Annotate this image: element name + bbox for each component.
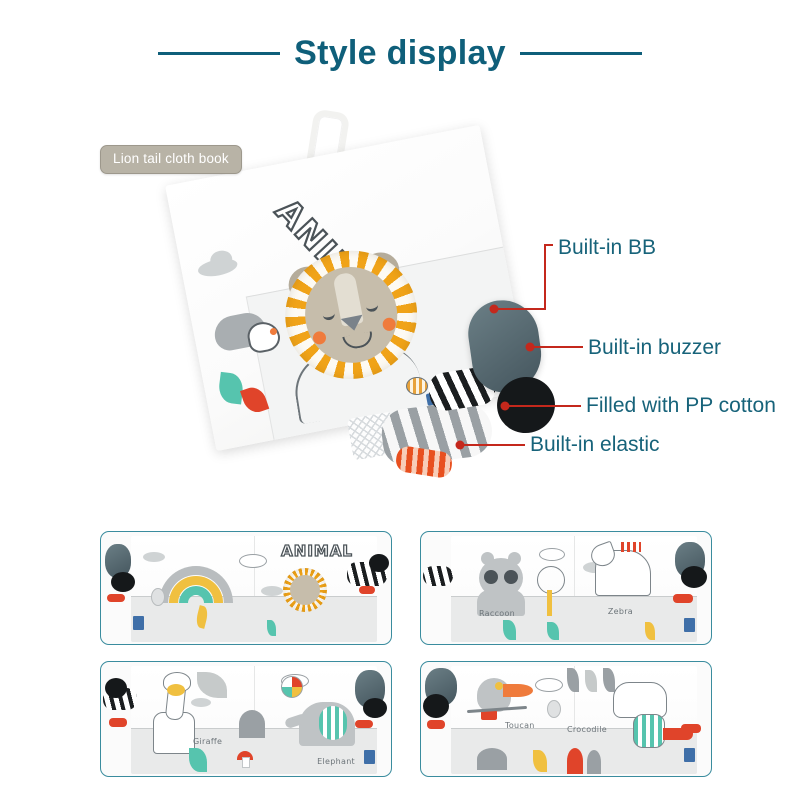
- black-plush-tail: [369, 554, 389, 572]
- thumbnail-gallery: ANIMAL: [100, 531, 712, 777]
- raccoon-ear-left: [481, 552, 494, 565]
- mini-lion-plush: [283, 568, 327, 612]
- blue-tab-icon: [364, 750, 375, 764]
- leaf-icon: [547, 622, 559, 640]
- callout-label-built-in-elastic: Built-in elastic: [530, 433, 660, 457]
- lion-cheek-right: [382, 317, 397, 332]
- thumbnail-giraffe-elephant[interactable]: Giraffe Elephant: [100, 661, 392, 777]
- ground-strip: [131, 596, 377, 642]
- leaf-icon: [567, 748, 583, 774]
- zebra-striped-tail: [423, 566, 453, 586]
- leaf-icon: [603, 668, 615, 692]
- orange-ribbon-tail: [427, 720, 445, 729]
- hero-product-section: Lion tail cloth book ANIMAL: [0, 95, 800, 510]
- lion-cheek-left: [312, 330, 327, 345]
- thumbnail-toucan-crocodile[interactable]: Toucan Crocodile: [420, 661, 712, 777]
- tree-icon: [547, 700, 561, 718]
- bush-icon: [239, 710, 265, 738]
- cloud-icon: [261, 586, 283, 596]
- thumbnail-raccoon-zebra[interactable]: Raccoon Zebra: [420, 531, 712, 645]
- blue-tab-icon: [133, 616, 144, 630]
- lion-plush-face: [274, 239, 428, 390]
- book-spread: Giraffe Elephant: [131, 666, 377, 774]
- leaf-icon: [217, 372, 244, 405]
- elephant-ear: [319, 706, 347, 740]
- page-title: Style display: [294, 34, 506, 73]
- bush-icon: [477, 748, 507, 770]
- product-name-badge: Lion tail cloth book: [100, 145, 242, 174]
- page-header: Style display: [0, 22, 800, 84]
- cloud-icon: [191, 698, 211, 707]
- black-plush-tail: [111, 572, 135, 592]
- flower-stem: [547, 590, 552, 616]
- raccoon-ear-right: [508, 552, 521, 565]
- leaf-icon: [567, 668, 579, 692]
- ball-toy-icon: [406, 377, 428, 395]
- black-plush-tail: [423, 694, 449, 718]
- orange-ribbon-tail: [359, 586, 375, 594]
- book-spread: ANIMAL: [131, 536, 377, 642]
- page-label-right: Crocodile: [567, 725, 607, 734]
- title-rule-right-icon: [520, 52, 642, 55]
- lion-nose: [341, 315, 365, 333]
- zebra-mane: [621, 542, 641, 552]
- branch-icon: [467, 706, 527, 713]
- page-label-left: Toucan: [505, 721, 535, 730]
- page-label-right: Zebra: [608, 607, 633, 616]
- page-label-left: Raccoon: [479, 609, 515, 618]
- beach-ball-icon: [281, 676, 303, 698]
- leaf-icon: [267, 620, 276, 636]
- fern-icon: [197, 672, 227, 698]
- leaf-icon: [587, 750, 601, 774]
- leaf-icon: [645, 622, 655, 640]
- black-plush-tail: [363, 698, 387, 718]
- thumbnail-cover-word: ANIMAL: [281, 542, 353, 560]
- title-rule-left-icon: [158, 52, 280, 55]
- cloud-icon: [143, 552, 165, 562]
- raccoon-eye-left: [484, 570, 498, 584]
- cloud-icon: [535, 678, 563, 692]
- tree-icon: [151, 588, 165, 606]
- black-plush-tail: [105, 678, 127, 698]
- lion-face: [290, 575, 320, 605]
- cloud-icon: [239, 554, 267, 568]
- mushroom-stem: [242, 757, 250, 768]
- orange-ribbon-tail: [673, 594, 693, 603]
- orange-ribbon-tail: [109, 718, 127, 727]
- raccoon-eye-right: [504, 570, 518, 584]
- orange-ribbon-tail: [107, 594, 125, 602]
- page-label-left: Giraffe: [193, 737, 222, 746]
- toucan-beak: [503, 684, 533, 697]
- page-label-right: Elephant: [317, 757, 355, 766]
- black-plush-tail: [681, 566, 707, 588]
- crocodile-head: [613, 682, 667, 718]
- crocodile-body: [633, 714, 665, 748]
- blue-tab-icon: [684, 618, 695, 632]
- book-spread: Raccoon Zebra: [451, 536, 697, 642]
- orange-ribbon-tail: [355, 720, 373, 728]
- orange-ribbon-tail: [681, 724, 701, 733]
- thumbnail-animal-rainbow[interactable]: ANIMAL: [100, 531, 392, 645]
- cloud-icon: [539, 548, 565, 561]
- callout-label-filled-pp-cotton: Filled with PP cotton: [586, 394, 776, 418]
- callout-label-built-in-bb: Built-in BB: [558, 236, 656, 260]
- book-spread: Toucan Crocodile: [451, 666, 697, 774]
- giraffe-snout: [167, 684, 185, 696]
- leaf-icon: [585, 670, 597, 692]
- lion-eye-right: [365, 302, 378, 313]
- callout-label-built-in-buzzer: Built-in buzzer: [588, 336, 721, 360]
- lion-mouth: [342, 331, 374, 350]
- toucan-eye: [495, 682, 503, 690]
- blue-tab-icon: [684, 748, 695, 762]
- lion-eye-left: [322, 310, 335, 321]
